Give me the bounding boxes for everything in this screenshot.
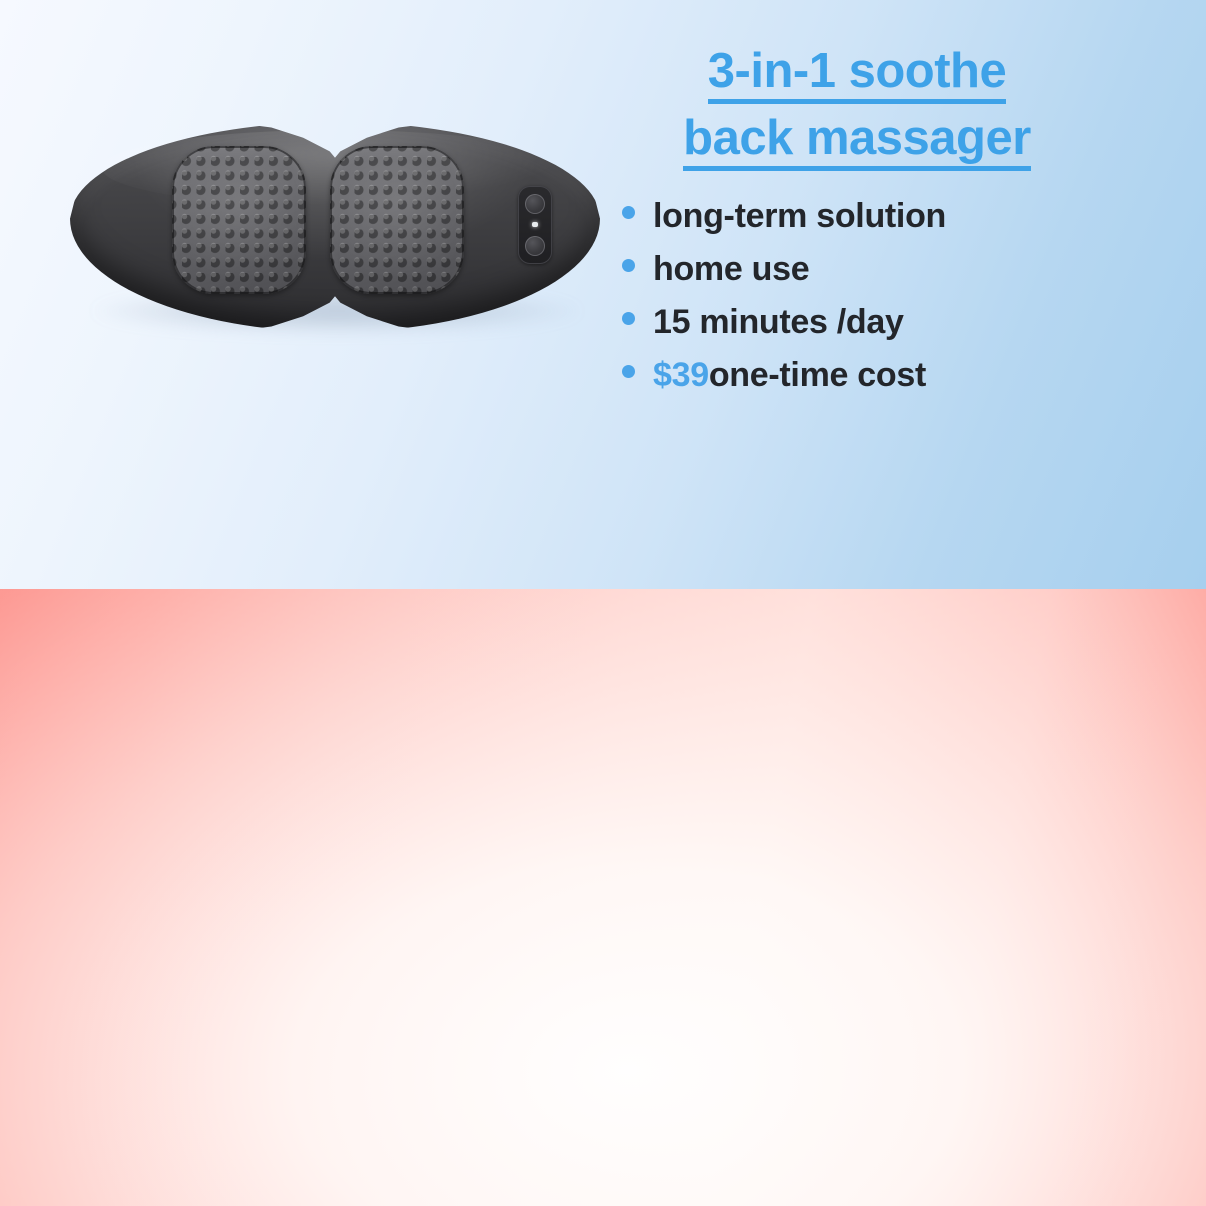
bullet-text: long-term solution [653,199,946,233]
price-value: $39 [653,358,709,392]
top-text-column: 3-in-1 soothe back massager long-term so… [622,46,1092,411]
list-item: long-term solution [622,199,1092,233]
top-heading: 3-in-1 soothe back massager [622,46,1092,171]
bullet-dot-icon [622,206,635,219]
power-button-icon [525,194,545,214]
bullet-dot-icon [622,365,635,378]
bullet-dot-icon [622,312,635,325]
bullet-text: 15 minutes /day [653,305,904,339]
mode-button-icon [525,236,545,256]
bullet-text: home use [653,252,809,286]
massage-pad-right [330,146,464,294]
top-heading-line-1: 3-in-1 soothe [708,46,1006,104]
bullet-dot-icon [622,259,635,272]
list-item: 15 minutes /day [622,305,1092,339]
massage-pad-left [172,146,306,294]
list-item: $39 one-time cost [622,358,1092,392]
list-item: home use [622,252,1092,286]
top-bullet-list: long-term solution home use 15 minutes /… [622,199,1092,392]
bullet-text: one-time cost [709,358,926,392]
top-heading-line-2: back massager [683,113,1031,171]
massager-control-panel [518,186,552,264]
top-section-panel: 3-in-1 soothe back massager long-term so… [0,0,1206,589]
bottom-section-panel: inversion tables increase tension causes… [0,589,1206,1206]
infographic-page: 3-in-1 soothe back massager long-term so… [0,0,1206,1206]
back-massager-product-photo [52,112,612,362]
status-led-indicator [532,222,538,227]
